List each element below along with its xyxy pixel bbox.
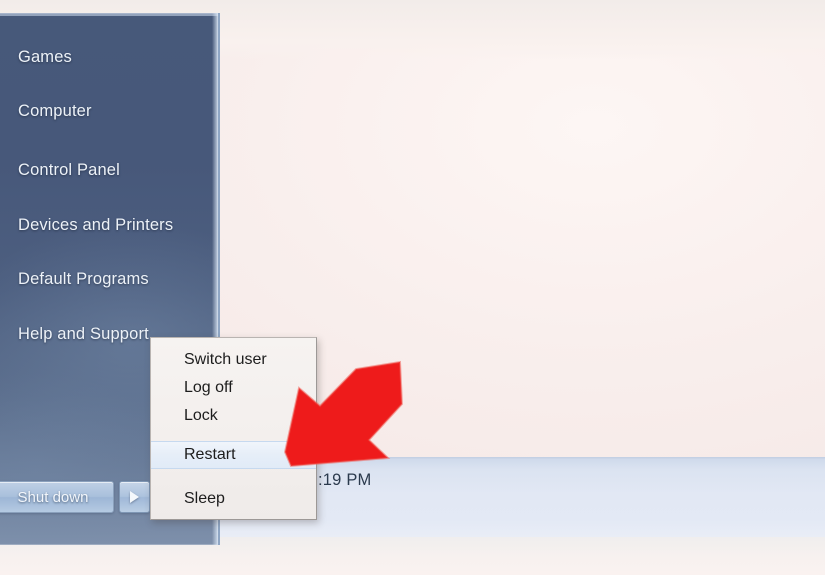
start-menu-item-computer[interactable]: Computer — [18, 102, 92, 121]
context-menu-item-restart[interactable]: Restart — [151, 441, 316, 469]
start-menu-top-highlight — [0, 13, 218, 16]
start-menu-item-control-panel[interactable]: Control Panel — [18, 161, 120, 180]
context-menu-item-log-off[interactable]: Log off — [151, 374, 316, 402]
screenshot-root: :19 PM Games Computer Control Panel Devi… — [0, 0, 825, 575]
triangle-right-icon — [130, 491, 139, 503]
context-menu-item-switch-user[interactable]: Switch user — [151, 346, 316, 374]
shutdown-button-label: Shut down — [18, 489, 89, 506]
start-menu-item-devices-and-printers[interactable]: Devices and Printers — [18, 216, 173, 235]
shutdown-context-menu: Switch user Log off Lock Restart Sleep — [150, 337, 317, 520]
start-menu-item-help-and-support[interactable]: Help and Support — [18, 325, 149, 344]
taskbar-clock[interactable]: :19 PM — [318, 471, 371, 490]
context-menu-item-lock[interactable]: Lock — [151, 402, 316, 430]
shutdown-options-button[interactable] — [119, 481, 150, 513]
context-menu-item-sleep[interactable]: Sleep — [151, 485, 316, 513]
start-menu-item-default-programs[interactable]: Default Programs — [18, 270, 149, 289]
start-menu-item-games[interactable]: Games — [18, 48, 72, 67]
shutdown-button-group: Shut down — [0, 481, 150, 513]
shutdown-button[interactable]: Shut down — [0, 481, 114, 513]
